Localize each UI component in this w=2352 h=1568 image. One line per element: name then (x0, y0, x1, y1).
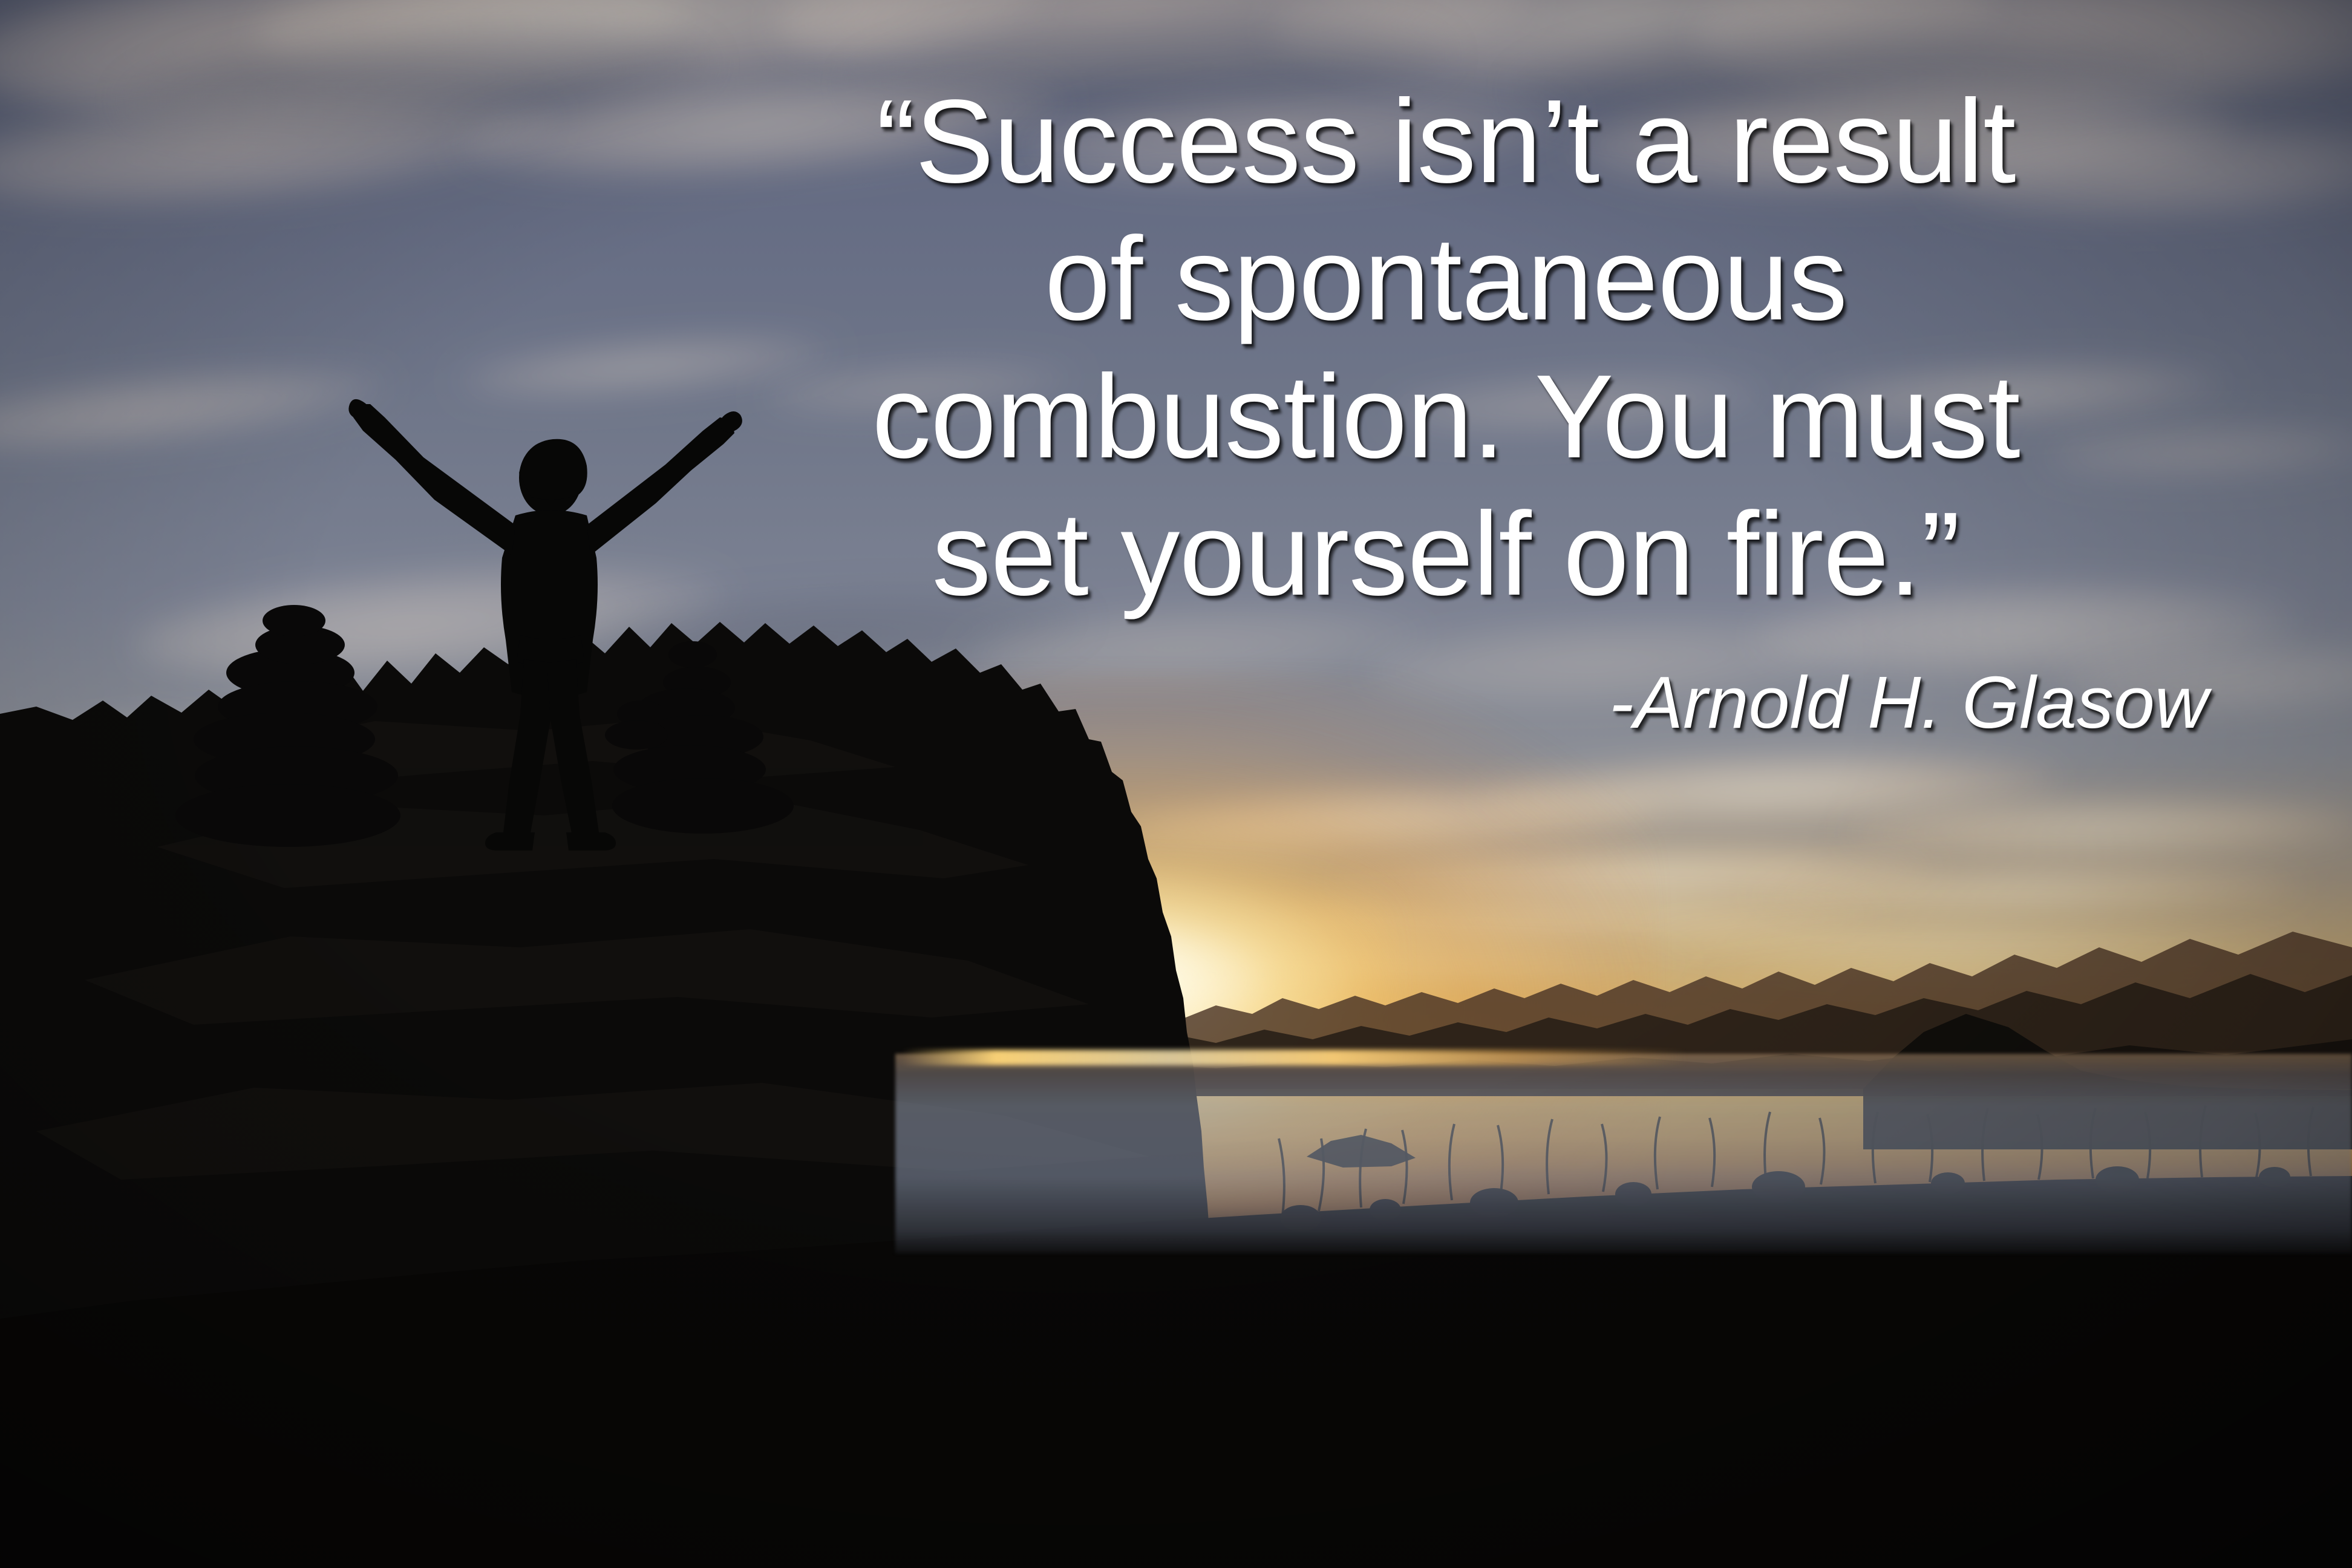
lake-water (895, 1054, 2352, 1253)
quote-text: “Success isn’t a result of spontaneous c… (653, 73, 2238, 622)
quote-poster: “Success isn’t a result of spontaneous c… (0, 0, 2352, 1568)
quote-attribution: -Arnold H. Glasow (653, 660, 2238, 745)
quote-block: “Success isn’t a result of spontaneous c… (653, 73, 2238, 745)
lake-reflection-streak (901, 1050, 1688, 1065)
